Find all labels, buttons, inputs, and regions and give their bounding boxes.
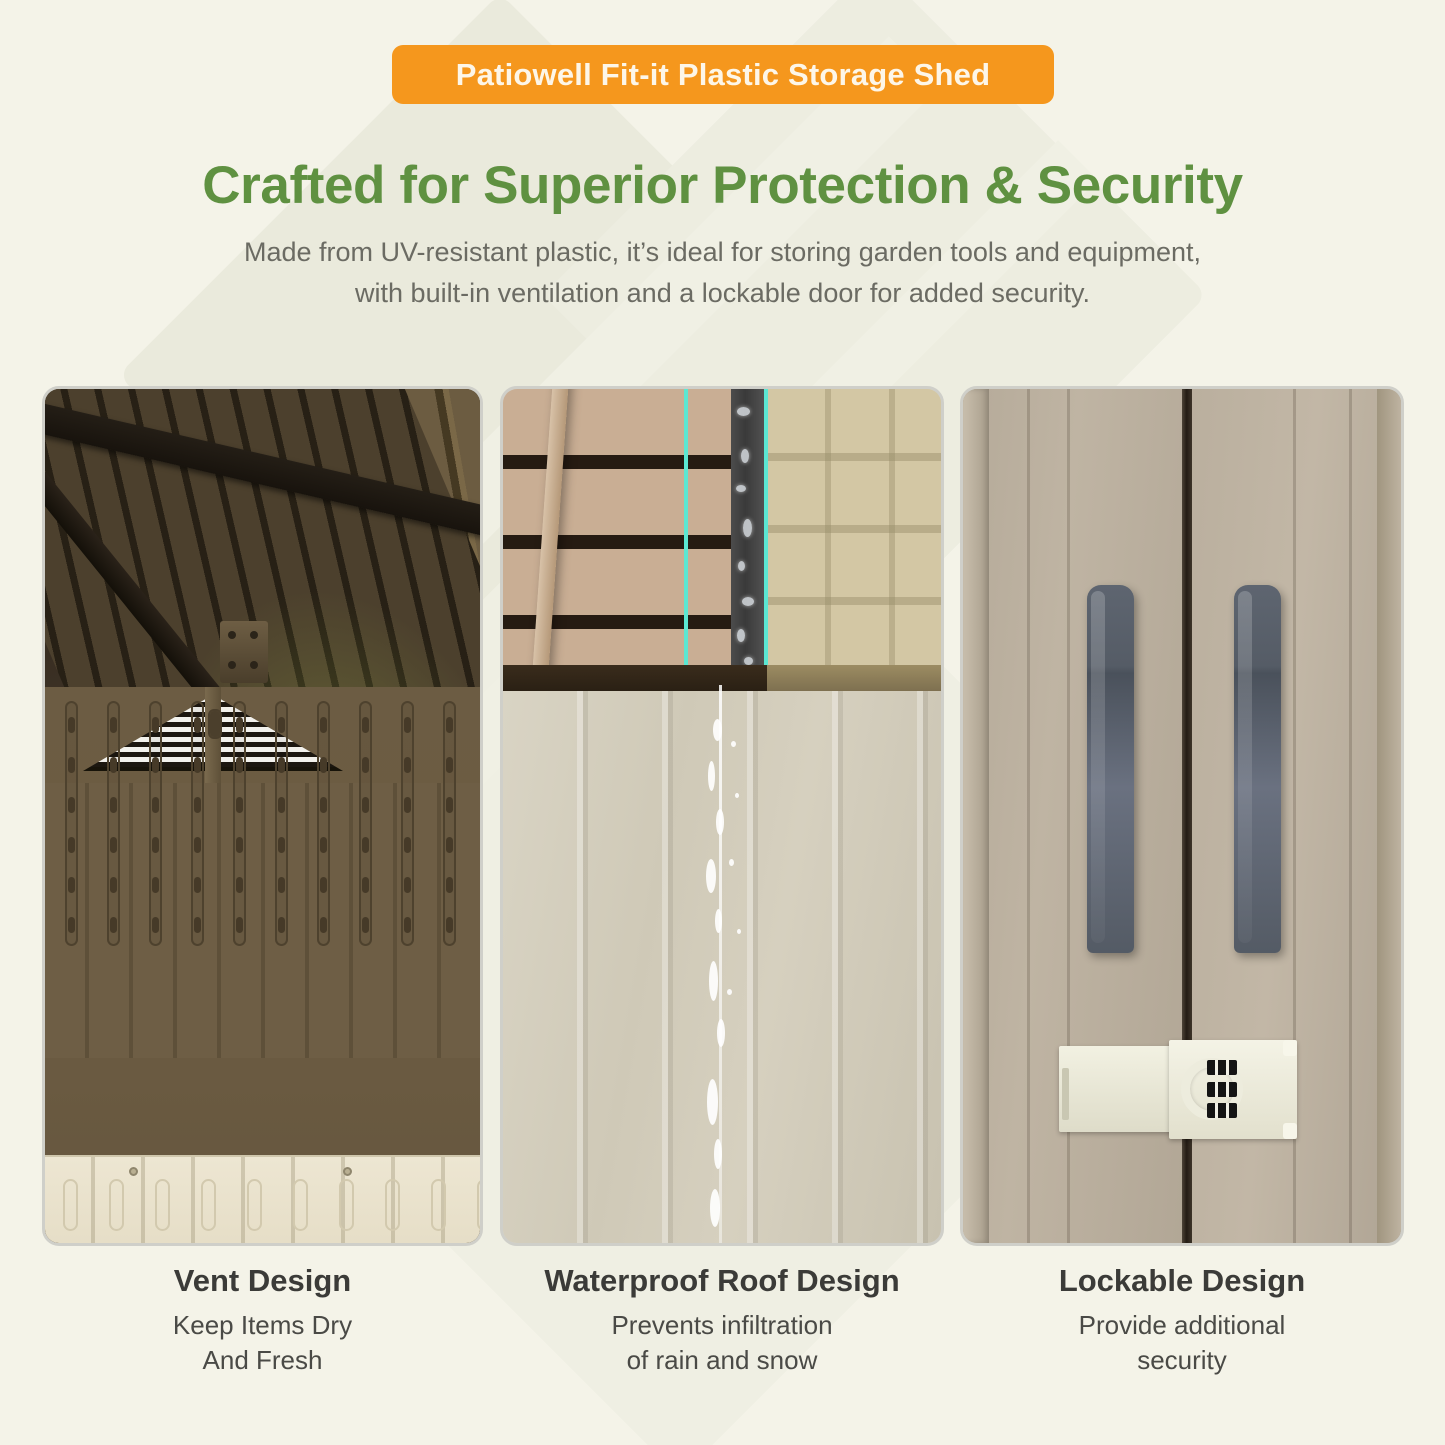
feature-caption-row: Vent Design Keep Items Dry And Fresh Wat… xyxy=(0,1260,1445,1420)
combination-lock xyxy=(1059,1040,1297,1139)
caption-subtitle-line-2: security xyxy=(960,1343,1404,1378)
shed-wall-below xyxy=(503,691,941,1243)
feature-image-lockable-design xyxy=(960,386,1404,1246)
caption-waterproof-roof-design: Waterproof Roof Design Prevents infiltra… xyxy=(500,1260,944,1378)
page-headline: Crafted for Superior Protection & Securi… xyxy=(0,155,1445,216)
feature-image-waterproof-roof xyxy=(500,386,944,1246)
caption-subtitle-line-2: And Fresh xyxy=(42,1343,483,1378)
caption-lockable-design: Lockable Design Provide additional secur… xyxy=(960,1260,1404,1378)
shed-double-doors-photo xyxy=(963,389,1401,1243)
product-title-text: Patiowell Fit-it Plastic Storage Shed xyxy=(456,57,991,93)
caption-subtitle: Provide additional security xyxy=(960,1308,1404,1378)
caption-vent-design: Vent Design Keep Items Dry And Fresh xyxy=(42,1260,483,1378)
caption-title: Lockable Design xyxy=(960,1260,1404,1302)
door-handle-right xyxy=(1234,585,1281,953)
caption-subtitle-line-1: Keep Items Dry xyxy=(42,1308,483,1343)
feature-image-vent-design xyxy=(42,386,483,1246)
infographic-page: Patiowell Fit-it Plastic Storage Shed Cr… xyxy=(0,0,1445,1445)
caption-subtitle-line-1: Prevents infiltration xyxy=(500,1308,944,1343)
caption-subtitle: Keep Items Dry And Fresh xyxy=(42,1308,483,1378)
gable-wall xyxy=(45,687,480,1243)
shed-interior-roof-photo xyxy=(45,389,480,1243)
roof-overlap-water-photo xyxy=(503,389,941,1243)
product-title-badge: Patiowell Fit-it Plastic Storage Shed xyxy=(392,45,1054,104)
lock-dials-icon xyxy=(1207,1060,1237,1118)
caption-subtitle: Prevents infiltration of rain and snow xyxy=(500,1308,944,1378)
door-handle-left xyxy=(1087,585,1134,953)
feature-image-row xyxy=(0,386,1445,1246)
subheadline-line-1: Made from UV-resistant plastic, it’s ide… xyxy=(0,232,1445,273)
caption-title: Vent Design xyxy=(42,1260,483,1302)
baseboard-panel xyxy=(45,1155,480,1243)
page-subheadline: Made from UV-resistant plastic, it’s ide… xyxy=(0,232,1445,314)
caption-subtitle-line-2: of rain and snow xyxy=(500,1343,944,1378)
subheadline-line-2: with built-in ventilation and a lockable… xyxy=(0,273,1445,314)
caption-subtitle-line-1: Provide additional xyxy=(960,1308,1404,1343)
caption-title: Waterproof Roof Design xyxy=(500,1260,944,1302)
